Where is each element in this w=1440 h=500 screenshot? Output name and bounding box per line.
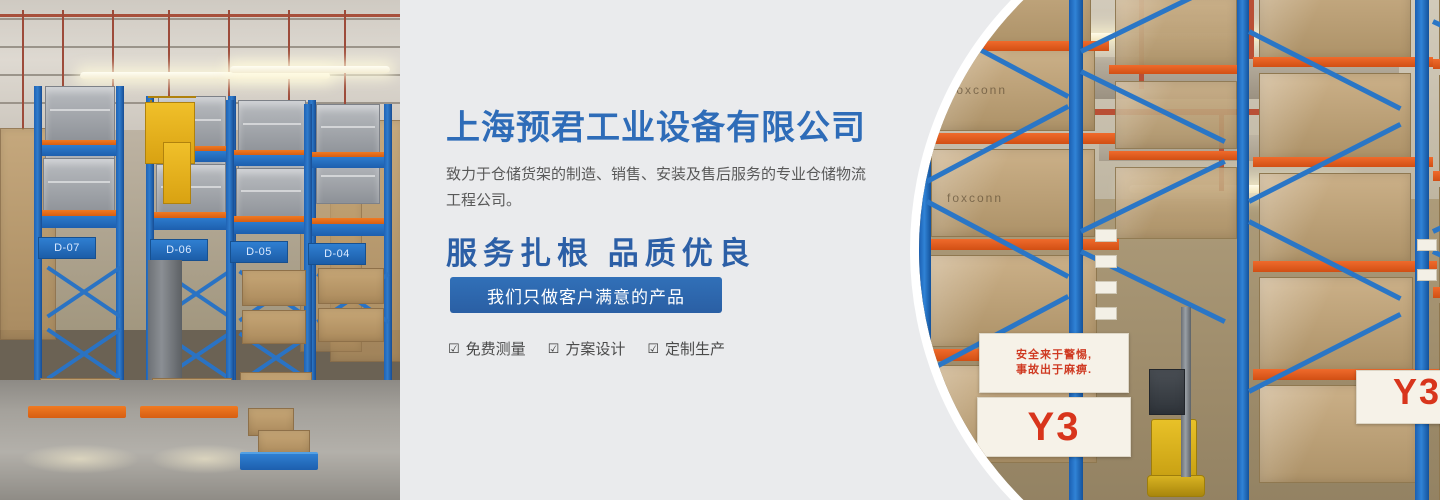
safety-sign-line2: 事故出于麻痹.: [1016, 363, 1092, 378]
ceiling-light: [80, 72, 330, 79]
aisle-code-sign-right: Y3: [1356, 370, 1440, 424]
rack-upright: [919, 0, 931, 500]
checkbox-checked-icon: ☑: [647, 341, 659, 357]
sprinkler-drop: [22, 10, 24, 130]
shelf-label: [1095, 255, 1117, 268]
orange-beam: [1253, 57, 1433, 67]
stacked-tote: [236, 168, 306, 222]
right-warehouse-photo-wrap: foxconn foxconn foxconn: [910, 0, 1440, 500]
right-warehouse-photo: foxconn foxconn foxconn: [919, 0, 1440, 500]
palletized-goods: [1115, 0, 1237, 67]
rack-label: D-07: [38, 237, 96, 259]
stacked-tote: [316, 104, 380, 158]
carton-brand-text: foxconn: [955, 0, 1011, 9]
orange-beam: [38, 140, 120, 145]
spacer: [152, 96, 154, 98]
carton: [318, 308, 384, 342]
checkbox-checked-icon: ☑: [548, 341, 560, 357]
rack-upright: [384, 104, 392, 416]
rack-label: D-04: [308, 243, 366, 265]
stacked-tote: [45, 86, 115, 144]
warehouse-floor: [0, 380, 400, 500]
forklift-operator: [1149, 369, 1185, 415]
rack-upright: [116, 86, 124, 416]
feature-label: 定制生产: [665, 338, 725, 359]
forklift-base: [1147, 475, 1205, 497]
palletized-goods: [1259, 73, 1411, 159]
floor-reflection: [20, 444, 140, 474]
orange-beam: [1109, 151, 1249, 160]
carton: [318, 268, 384, 304]
orange-beam: [1433, 59, 1440, 69]
orange-beam: [36, 210, 122, 216]
ceiling-purlin: [0, 46, 400, 48]
carton-brand-text: foxconn: [951, 83, 1007, 97]
spacer: [155, 96, 157, 98]
stacked-tote: [238, 100, 306, 156]
rack-label: D-05: [230, 241, 288, 263]
feature-label: 免费测量: [466, 338, 526, 359]
rack-upright: [1237, 0, 1249, 500]
shelf-label: [1095, 229, 1117, 242]
stacked-tote: [43, 158, 115, 216]
shelf-label: [1417, 269, 1437, 281]
feature-item: ☑ 免费测量: [448, 338, 526, 359]
safety-sign: 安全来于警惕, 事故出于麻痹.: [979, 333, 1129, 393]
sprinkler-main: [0, 14, 400, 17]
promo-banner: D-07 D-06: [0, 0, 1440, 500]
carton-brand-text: foxconn: [947, 191, 1003, 205]
floor-blue-pallet: [240, 452, 318, 470]
orange-beam: [1253, 157, 1433, 167]
checkbox-checked-icon: ☑: [448, 341, 460, 357]
shelf-label: [1095, 307, 1117, 320]
orange-beam: [306, 218, 390, 224]
page-title: 上海预君工业设备有限公司: [446, 100, 866, 149]
order-picker-boom: [163, 142, 191, 204]
carton: [242, 310, 306, 344]
orange-beam: [230, 150, 312, 155]
feature-list: ☑ 免费测量 ☑ 方案设计 ☑ 定制生产: [448, 338, 725, 359]
orange-beam: [1433, 171, 1440, 181]
ceiling-light: [230, 66, 390, 73]
ceiling-purlin: [0, 18, 400, 20]
carton: [242, 270, 306, 306]
left-warehouse-photo: D-07 D-06: [0, 0, 400, 500]
subtitle-text: 致力于仓储货架的制造、销售、安装及售后服务的专业仓储物流工程公司。: [446, 162, 866, 214]
orange-beam: [228, 216, 314, 222]
rack-foot: [140, 406, 238, 418]
orange-beam: [308, 152, 388, 157]
slogan-text: 服务扎根 品质优良: [446, 228, 756, 273]
orange-beam: [1433, 287, 1440, 298]
shelf-label: [1095, 281, 1117, 294]
shelf-label: [1417, 239, 1437, 251]
rack-foot: [28, 406, 126, 418]
feature-item: ☑ 方案设计: [548, 338, 626, 359]
feature-label: 方案设计: [565, 338, 625, 359]
orange-beam: [1109, 65, 1249, 74]
safety-sign-line1: 安全来于警惕,: [1016, 348, 1092, 363]
aisle-code-sign: Y3: [977, 397, 1131, 457]
cta-button[interactable]: 我们只做客户满意的产品: [450, 277, 722, 313]
feature-item: ☑ 定制生产: [647, 338, 725, 359]
